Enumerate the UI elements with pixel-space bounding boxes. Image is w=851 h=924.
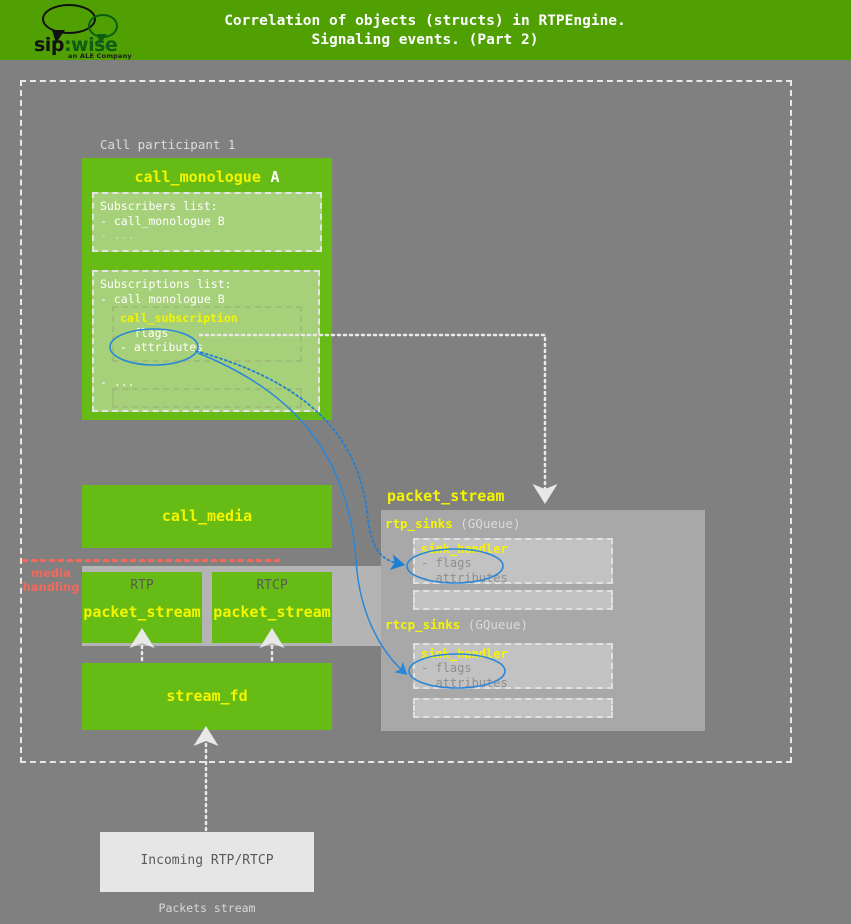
rtp-sink-handler-flags: - flags [421, 556, 605, 571]
page-header: sip:wise an ALE Company Correlation of o… [0, 0, 851, 60]
sipwise-logo: sip:wise an ALE Company [30, 2, 150, 58]
page-title-line-1: Correlation of objects (structs) in RTPE… [160, 12, 690, 31]
media-handling-divider [22, 559, 280, 562]
rtcp-packet-stream-label: packet_stream [212, 603, 332, 621]
rtp-sink-handler-attributes: - attributes [421, 571, 605, 586]
subscriptions-placeholder-box [112, 388, 302, 408]
call-media-box[interactable]: call_media [82, 485, 332, 548]
subscriptions-heading: Subscriptions list: [100, 277, 312, 292]
subscribers-list-box: Subscribers list: - call_monologue B - .… [92, 192, 322, 252]
stream-fd-label: stream_fd [82, 687, 332, 705]
call-monologue-suffix: A [271, 168, 280, 186]
rtp-sink-handler-empty-slot [413, 590, 613, 610]
rtcp-sink-handler-empty-slot [413, 698, 613, 718]
call-subscription-title: call_subscription [120, 311, 294, 326]
subscribers-item-0: - call_monologue B [100, 214, 314, 229]
rtp-sink-handler-box[interactable]: sink_handler - flags - attributes [413, 538, 613, 584]
rtp-sinks-name: rtp_sinks [385, 516, 453, 531]
call-monologue-a-heading: call_monologue A [82, 167, 332, 186]
subscriptions-item: - call monologue B [100, 292, 312, 307]
stream-fd-box[interactable]: stream_fd [82, 663, 332, 730]
packets-stream-caption: Packets stream [100, 901, 314, 915]
rtcp-sinks-name: rtcp_sinks [385, 617, 460, 632]
rtcp-sink-handler-attributes: - attributes [421, 676, 605, 691]
subscribers-heading: Subscribers list: [100, 199, 314, 214]
incoming-rtp-rtcp-label: Incoming RTP/RTCP [100, 853, 314, 868]
incoming-rtp-rtcp-box[interactable]: Incoming RTP/RTCP [100, 832, 314, 892]
subscriptions-list-box: Subscriptions list: - call monologue B c… [92, 270, 320, 412]
subscribers-item-1: - ... [100, 228, 314, 243]
rtcp-packet-stream-box[interactable]: RTCP packet_stream [212, 572, 332, 643]
media-handling-label: media handling [22, 566, 80, 594]
call-monologue-a-box[interactable]: call_monologue A Subscribers list: - cal… [82, 158, 332, 420]
logo-sip-text: sip [34, 34, 64, 56]
rtp-packet-stream-label: packet_stream [82, 603, 202, 621]
call-media-label: call_media [82, 507, 332, 525]
call-participant-label: Call participant 1 [100, 137, 235, 152]
media-handling-line-1: media [22, 566, 80, 580]
rtp-sink-handler-title: sink_handler [421, 542, 605, 556]
rtcp-sink-handler-flags: - flags [421, 661, 605, 676]
rtcp-sink-handler-title: sink_handler [421, 647, 605, 661]
rtcp-kind-label: RTCP [212, 578, 332, 593]
rtcp-sinks-heading: rtcp_sinks (GQueue) [385, 617, 528, 632]
rtcp-sinks-type: (GQueue) [468, 617, 528, 632]
page-title-line-2: Signaling events. (Part 2) [160, 31, 690, 50]
packet-stream-panel[interactable]: rtp_sinks (GQueue) sink_handler - flags … [381, 510, 705, 731]
logo-tagline: an ALE Company [68, 52, 132, 60]
packet-stream-title: packet_stream [387, 487, 504, 505]
call-subscription-flags: - flags [120, 326, 294, 341]
call-subscription-box[interactable]: call_subscription - flags - attributes [112, 306, 302, 362]
rtp-sinks-heading: rtp_sinks (GQueue) [385, 516, 520, 531]
call-monologue-name: call_monologue [134, 168, 260, 186]
call-subscription-attributes: - attributes [120, 340, 294, 355]
media-handling-line-2: handling [22, 580, 80, 594]
rtp-sinks-type: (GQueue) [460, 516, 520, 531]
rtp-packet-stream-box[interactable]: RTP packet_stream [82, 572, 202, 643]
rtp-kind-label: RTP [82, 578, 202, 593]
rtcp-sink-handler-box[interactable]: sink_handler - flags - attributes [413, 643, 613, 689]
page-title: Correlation of objects (structs) in RTPE… [160, 12, 690, 50]
